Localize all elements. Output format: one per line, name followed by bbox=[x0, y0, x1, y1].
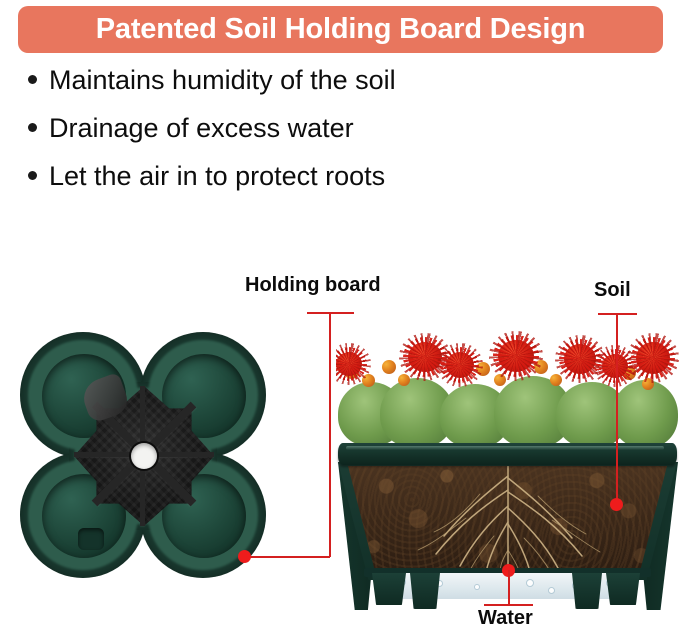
plant-roots bbox=[348, 466, 667, 578]
pot-foot bbox=[572, 573, 602, 609]
feature-text: Let the air in to protect roots bbox=[49, 163, 385, 190]
chrysanthemum-bloom bbox=[498, 340, 534, 372]
bullet-dot-icon bbox=[28, 75, 37, 84]
chrysanthemum-bloom bbox=[602, 354, 628, 378]
feature-bullet-list: Maintains humidity of the soil Drainage … bbox=[28, 67, 588, 211]
water-bubble bbox=[474, 584, 480, 590]
chrysanthemum-bloom bbox=[336, 352, 362, 376]
pot-foot bbox=[606, 573, 640, 605]
callout-marker-soil bbox=[610, 498, 623, 511]
chrysanthemum-bloom bbox=[446, 352, 474, 378]
leader-line-water bbox=[508, 570, 510, 605]
callout-label-soil: Soil bbox=[594, 280, 631, 300]
leader-line-soil bbox=[616, 313, 618, 503]
water-bubble bbox=[548, 587, 555, 594]
chrysanthemum-bloom bbox=[564, 344, 596, 374]
callout-marker-holding-board bbox=[238, 550, 251, 563]
foliage bbox=[612, 380, 678, 448]
product-diagram: Holding board Soil Water bbox=[0, 230, 679, 638]
callout-label-holding-board: Holding board bbox=[245, 275, 381, 295]
callout-label-water: Water bbox=[478, 608, 533, 628]
drainage-hole bbox=[131, 443, 157, 469]
leader-line-cap-water bbox=[484, 604, 533, 606]
pot-foot bbox=[372, 573, 406, 605]
list-item: Maintains humidity of the soil bbox=[28, 67, 588, 115]
feature-text: Drainage of excess water bbox=[49, 115, 354, 142]
leader-line-holding-board bbox=[329, 312, 331, 557]
leader-line-holding-board-horizontal bbox=[250, 556, 330, 558]
flower-bud bbox=[382, 360, 396, 374]
page-title: Patented Soil Holding Board Design bbox=[96, 15, 585, 44]
soil-holding-board-topdown bbox=[12, 330, 274, 582]
flower-bud bbox=[550, 374, 562, 386]
bullet-dot-icon bbox=[28, 171, 37, 180]
pot-foot bbox=[410, 573, 440, 609]
tray-foot bbox=[78, 528, 104, 550]
feature-text: Maintains humidity of the soil bbox=[49, 67, 396, 94]
flower-canopy bbox=[336, 330, 679, 452]
chrysanthemum-bloom bbox=[636, 342, 670, 374]
header-banner: Patented Soil Holding Board Design bbox=[18, 6, 663, 53]
list-item: Let the air in to protect roots bbox=[28, 163, 588, 211]
bullet-dot-icon bbox=[28, 123, 37, 132]
list-item: Drainage of excess water bbox=[28, 115, 588, 163]
water-bubble bbox=[526, 579, 534, 587]
